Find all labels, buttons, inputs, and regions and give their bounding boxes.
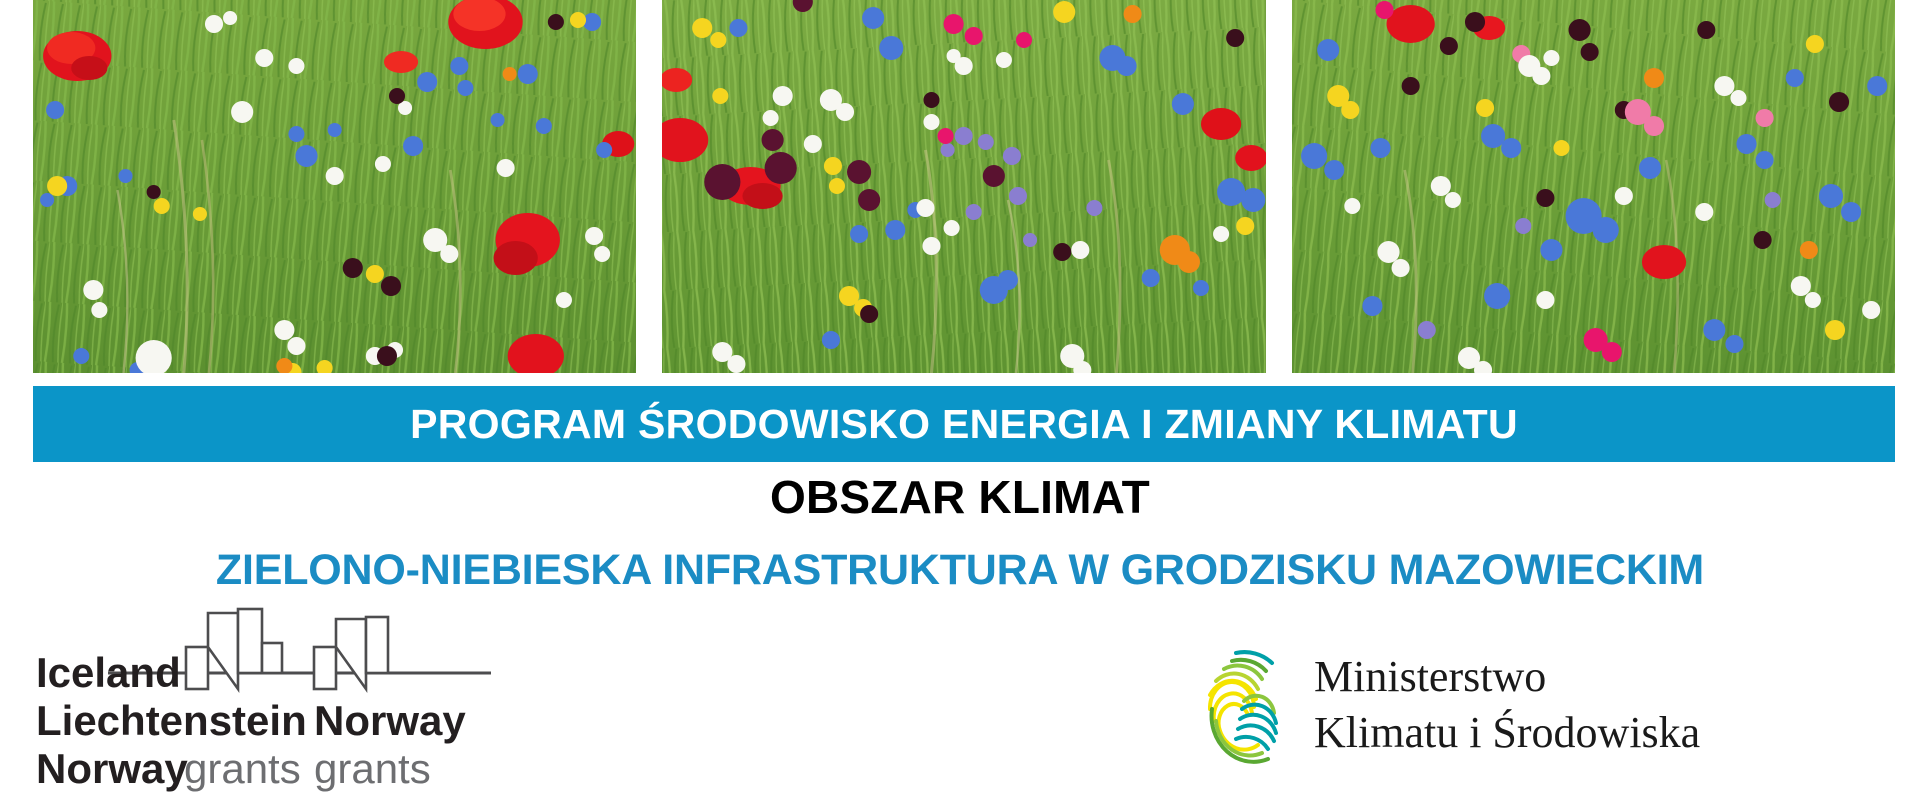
ministry-line-2: Klimatu i Środowiska (1314, 705, 1700, 761)
meadow-photo-left-graphic (33, 0, 636, 373)
grants-line-norway-right: Norway (314, 697, 466, 744)
meadow-photo-right (1292, 0, 1895, 373)
grants-line-grants-left: grants (184, 745, 301, 792)
meadow-photo-left (33, 0, 636, 373)
meadow-photo-center (662, 0, 1265, 373)
project-subtitle: ZIELONO-NIEBIESKA INFRASTRUKTURA W GRODZ… (0, 546, 1920, 594)
photo-strip (33, 0, 1895, 373)
ministry-wordmark: Ministerstwo Klimatu i Środowiska (1314, 649, 1700, 762)
meadow-photo-right-graphic (1292, 0, 1895, 373)
eea-norway-grants-logo-graphic: Iceland Liechtenstein Norway grants Norw… (36, 595, 516, 810)
grants-line-iceland: Iceland (36, 649, 181, 696)
footer-logos: Iceland Liechtenstein Norway grants Norw… (0, 630, 1920, 810)
heading-area: OBSZAR KLIMAT ZIELONO-NIEBIESKA INFRASTR… (0, 472, 1920, 594)
grants-line-norway: Norway (36, 745, 188, 792)
program-banner: PROGRAM ŚRODOWISKO ENERGIA I ZMIANY KLIM… (33, 386, 1895, 462)
ministry-swirl-icon (1196, 641, 1292, 769)
grants-line-liechtenstein: Liechtenstein (36, 697, 307, 744)
ministry-swirl-graphic (1196, 641, 1292, 769)
program-banner-text: PROGRAM ŚRODOWISKO ENERGIA I ZMIANY KLIM… (410, 401, 1518, 448)
poster-page: PROGRAM ŚRODOWISKO ENERGIA I ZMIANY KLIM… (0, 0, 1920, 810)
grants-line-grants-right: grants (314, 745, 431, 792)
meadow-photo-center-graphic (662, 0, 1265, 373)
eea-norway-grants-logo: Iceland Liechtenstein Norway grants Norw… (36, 595, 516, 810)
area-title: OBSZAR KLIMAT (0, 472, 1920, 524)
ministry-line-1: Ministerstwo (1314, 649, 1700, 705)
ministry-logo: Ministerstwo Klimatu i Środowiska (1196, 630, 1836, 780)
